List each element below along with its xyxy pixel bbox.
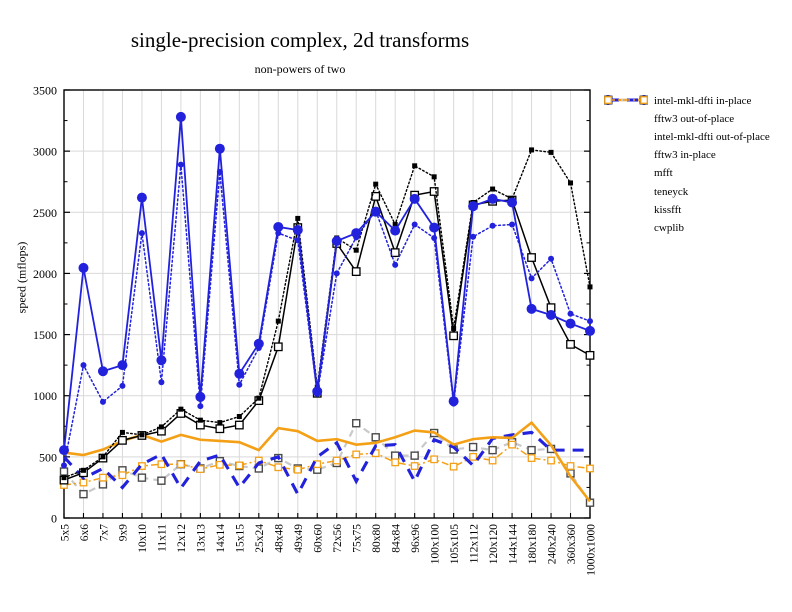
- svg-text:5x5: 5x5: [59, 524, 71, 542]
- legend-item: kissfft: [604, 201, 792, 219]
- svg-text:112x112: 112x112: [468, 524, 480, 564]
- svg-text:6x6: 6x6: [79, 524, 91, 542]
- chart-legend: intel-mkl-dfti in-placefftw3 out-of-plac…: [604, 92, 792, 237]
- svg-text:10x10: 10x10: [137, 524, 149, 553]
- svg-text:75x75: 75x75: [352, 524, 364, 553]
- svg-text:60x60: 60x60: [313, 524, 325, 553]
- svg-text:240x240: 240x240: [546, 524, 558, 565]
- svg-text:1000: 1000: [33, 389, 57, 403]
- y-axis-ticks: 0500100015002000250030003500: [33, 84, 590, 526]
- legend-item-label: intel-mkl-dfti in-place: [648, 95, 751, 107]
- svg-text:3000: 3000: [33, 145, 57, 159]
- svg-text:105x105: 105x105: [449, 524, 461, 565]
- legend-item: intel-mkl-dfti out-of-place: [604, 128, 792, 146]
- svg-text:0: 0: [51, 512, 57, 526]
- svg-text:96x96: 96x96: [410, 524, 422, 553]
- x-axis-ticks: 5x56x67x79x910x1011x1112x1213x1314x1415x…: [59, 513, 597, 576]
- svg-text:1500: 1500: [33, 328, 57, 342]
- legend-swatch-icon: [604, 220, 648, 236]
- legend-item: cwplib: [604, 219, 792, 237]
- svg-text:15x15: 15x15: [235, 524, 247, 553]
- series-line-fftw3-out-of-place: [64, 117, 590, 450]
- svg-text:180x180: 180x180: [527, 524, 539, 565]
- svg-text:9x9: 9x9: [118, 524, 130, 542]
- legend-item-label: intel-mkl-dfti out-of-place: [648, 131, 770, 143]
- legend-item: teneyck: [604, 182, 792, 200]
- svg-text:25x24: 25x24: [254, 524, 266, 553]
- svg-text:100x100: 100x100: [429, 524, 441, 565]
- svg-text:84x84: 84x84: [390, 524, 402, 553]
- legend-item-label: mfft: [648, 167, 673, 179]
- legend-swatch-icon: [604, 129, 648, 145]
- legend-item-label: teneyck: [648, 186, 688, 198]
- legend-item: fftw3 out-of-place: [604, 110, 792, 128]
- legend-item-label: fftw3 out-of-place: [648, 113, 734, 125]
- svg-text:144x144: 144x144: [507, 524, 519, 565]
- legend-swatch-icon: [604, 202, 648, 218]
- axes: [64, 90, 590, 518]
- svg-text:360x360: 360x360: [566, 524, 578, 565]
- svg-text:48x48: 48x48: [274, 524, 286, 553]
- svg-text:3500: 3500: [33, 84, 57, 98]
- legend-item: fftw3 in-place: [604, 146, 792, 164]
- svg-text:11x11: 11x11: [157, 524, 169, 552]
- svg-text:13x13: 13x13: [196, 524, 208, 553]
- svg-text:72x56: 72x56: [332, 524, 344, 553]
- svg-text:12x12: 12x12: [176, 524, 188, 553]
- svg-text:7x7: 7x7: [98, 524, 110, 542]
- legend-item-label: fftw3 in-place: [648, 149, 716, 161]
- legend-swatch-icon: [604, 184, 648, 200]
- legend-item: mfft: [604, 164, 792, 182]
- legend-item-label: kissfft: [648, 204, 681, 216]
- svg-text:2500: 2500: [33, 206, 57, 220]
- svg-text:14x14: 14x14: [215, 524, 227, 553]
- legend-swatch-icon: [604, 111, 648, 127]
- svg-text:49x49: 49x49: [293, 524, 305, 553]
- svg-text:500: 500: [39, 450, 57, 464]
- svg-text:120x120: 120x120: [488, 524, 500, 565]
- legend-item-label: cwplib: [648, 222, 684, 234]
- series-markers-fftw3-out-of-place: [59, 112, 595, 455]
- legend-swatch-icon: [604, 165, 648, 181]
- svg-text:1000x1000: 1000x1000: [585, 524, 597, 576]
- grid-lines: [64, 90, 590, 518]
- svg-text:80x80: 80x80: [371, 524, 383, 553]
- svg-text:2000: 2000: [33, 267, 57, 281]
- legend-swatch-icon: [604, 147, 648, 163]
